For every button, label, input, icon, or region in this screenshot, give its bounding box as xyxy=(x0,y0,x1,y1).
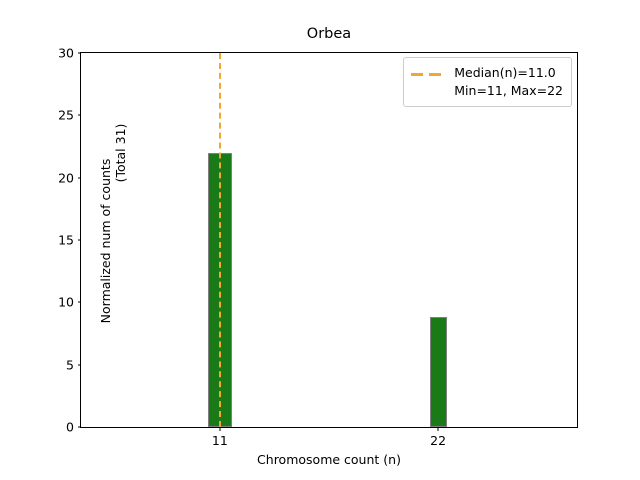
ytick-label-0: 0 xyxy=(21,420,81,435)
x-axis-label: Chromosome count (n) xyxy=(80,452,578,467)
dashed-line-icon xyxy=(411,66,445,82)
xtick-mark-22 xyxy=(438,427,439,431)
ytick-label-5: 5 xyxy=(21,357,81,372)
median-line xyxy=(219,53,221,427)
chart-title: Orbea xyxy=(80,26,578,42)
ytick-label-10: 10 xyxy=(21,295,81,310)
legend-label-median: Median(n)=11.0 xyxy=(454,64,563,82)
plot-area: 0 5 10 15 20 25 30 11 22 Median(n)=11.0 … xyxy=(80,52,578,428)
chart-legend: Median(n)=11.0 Min=11, Max=22 xyxy=(403,57,572,107)
ytick-label-15: 15 xyxy=(21,233,81,248)
xtick-label-22: 22 xyxy=(398,433,478,448)
y-axis-label-secondary: (Total 31) xyxy=(111,53,131,253)
ytick-label-30: 30 xyxy=(21,46,81,61)
legend-label-minmax: Min=11, Max=22 xyxy=(454,82,563,100)
xtick-label-11: 11 xyxy=(180,433,260,448)
chart-figure: Orbea 0 5 10 15 20 25 30 11 22 Medi xyxy=(0,0,640,480)
xtick-mark-11 xyxy=(219,427,220,431)
ytick-label-20: 20 xyxy=(21,170,81,185)
bar-22[interactable] xyxy=(430,317,447,427)
ytick-label-25: 25 xyxy=(21,108,81,123)
